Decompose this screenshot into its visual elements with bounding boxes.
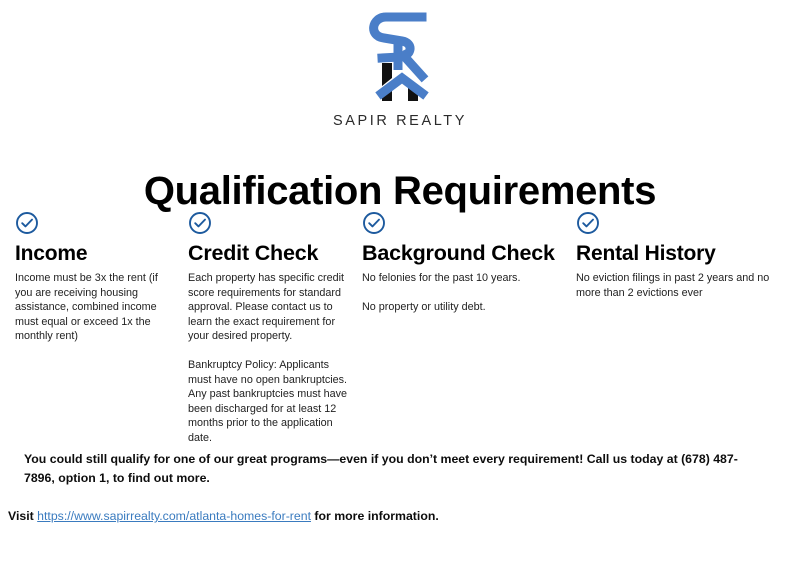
requirement-column-credit-check: Credit Check Each property has specific … xyxy=(188,211,348,446)
requirement-title: Rental History xyxy=(576,241,788,266)
requirement-paragraph: Each property has specific credit score … xyxy=(188,271,348,344)
requirement-title: Credit Check xyxy=(188,241,348,266)
check-circle-icon xyxy=(362,211,386,235)
requirement-paragraph: No felonies for the past 10 years. xyxy=(362,271,567,286)
requirement-column-background-check: Background Check No felonies for the pas… xyxy=(362,211,567,314)
requirement-column-rental-history: Rental History No eviction filings in pa… xyxy=(576,211,788,300)
check-circle-icon xyxy=(15,211,39,235)
requirement-title: Income xyxy=(15,241,177,266)
requirement-paragraph-bankruptcy: Bankruptcy Policy: Applicants must have … xyxy=(188,358,348,446)
visit-line: Visit https://www.sapirrealty.com/atlant… xyxy=(8,507,708,525)
check-circle-icon xyxy=(576,211,600,235)
visit-prefix: Visit xyxy=(8,509,37,523)
requirements-row: Income Income must be 3x the rent (if yo… xyxy=(0,211,800,441)
website-link[interactable]: https://www.sapirrealty.com/atlanta-home… xyxy=(37,509,311,523)
requirement-paragraph: Income must be 3x the rent (if you are r… xyxy=(15,271,177,344)
brand-logo-block: SAPIR REALTY xyxy=(0,8,800,129)
requirement-column-income: Income Income must be 3x the rent (if yo… xyxy=(15,211,177,344)
requirement-paragraph-debt: No property or utility debt. xyxy=(362,300,567,315)
call-to-action-text: You could still qualify for one of our g… xyxy=(24,450,764,488)
visit-suffix: for more information. xyxy=(311,509,439,523)
check-circle-icon xyxy=(188,211,212,235)
page-title: Qualification Requirements xyxy=(0,167,800,215)
requirement-paragraph: No eviction filings in past 2 years and … xyxy=(576,271,788,300)
sapir-realty-monogram-sr-icon xyxy=(352,8,448,112)
brand-wordmark: SAPIR REALTY xyxy=(0,113,800,129)
requirement-title: Background Check xyxy=(362,241,567,266)
